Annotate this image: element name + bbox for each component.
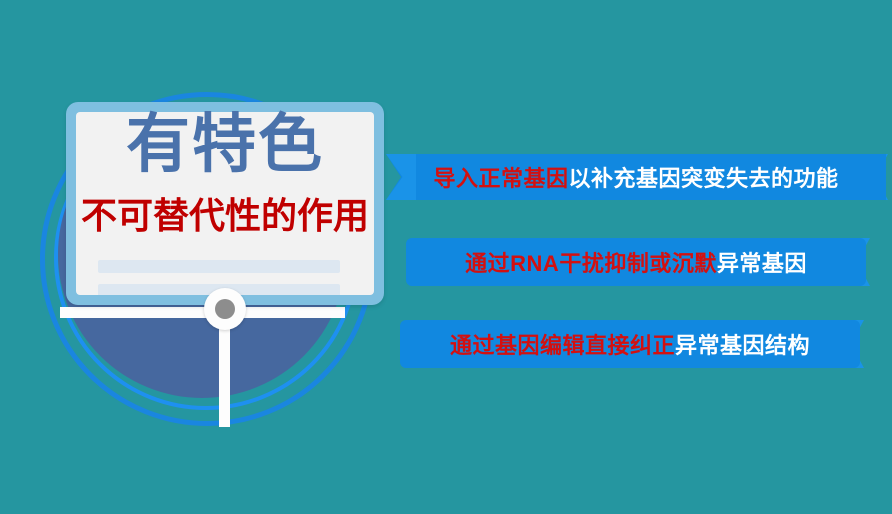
slide-canvas: 有特色 不可替代性的作用 导入正常基因以补充基因突变失去的功能 通过RNA干扰抑… — [0, 0, 892, 514]
banner-2-highlight-text: 通过RNA干扰抑制或沉默 — [465, 246, 717, 278]
banner-item-2[interactable]: 通过RNA干扰抑制或沉默异常基因 — [406, 238, 866, 286]
shield-badge-illustration: 有特色 不可替代性的作用 — [0, 0, 400, 514]
banner-item-1[interactable]: 导入正常基因以补充基因突变失去的功能 — [386, 154, 886, 200]
banner-1-highlight-text: 导入正常基因 — [433, 161, 568, 193]
screen-placeholder-line — [98, 260, 340, 273]
screen-headline: 有特色 — [76, 112, 374, 176]
hub-dot-icon — [215, 299, 235, 319]
banner-1-normal-text: 以补充基因突变失去的功能 — [569, 161, 839, 193]
banner-2-normal-text: 异常基因 — [717, 246, 807, 278]
banner-3-normal-text: 异常基因结构 — [675, 328, 810, 360]
banner-item-3[interactable]: 通过基因编辑直接纠正异常基因结构 — [400, 320, 860, 368]
divider-horizontal — [60, 307, 345, 318]
screen-subheadline: 不可替代性的作用 — [72, 198, 378, 234]
banner-3-highlight-text: 通过基因编辑直接纠正 — [450, 328, 675, 360]
